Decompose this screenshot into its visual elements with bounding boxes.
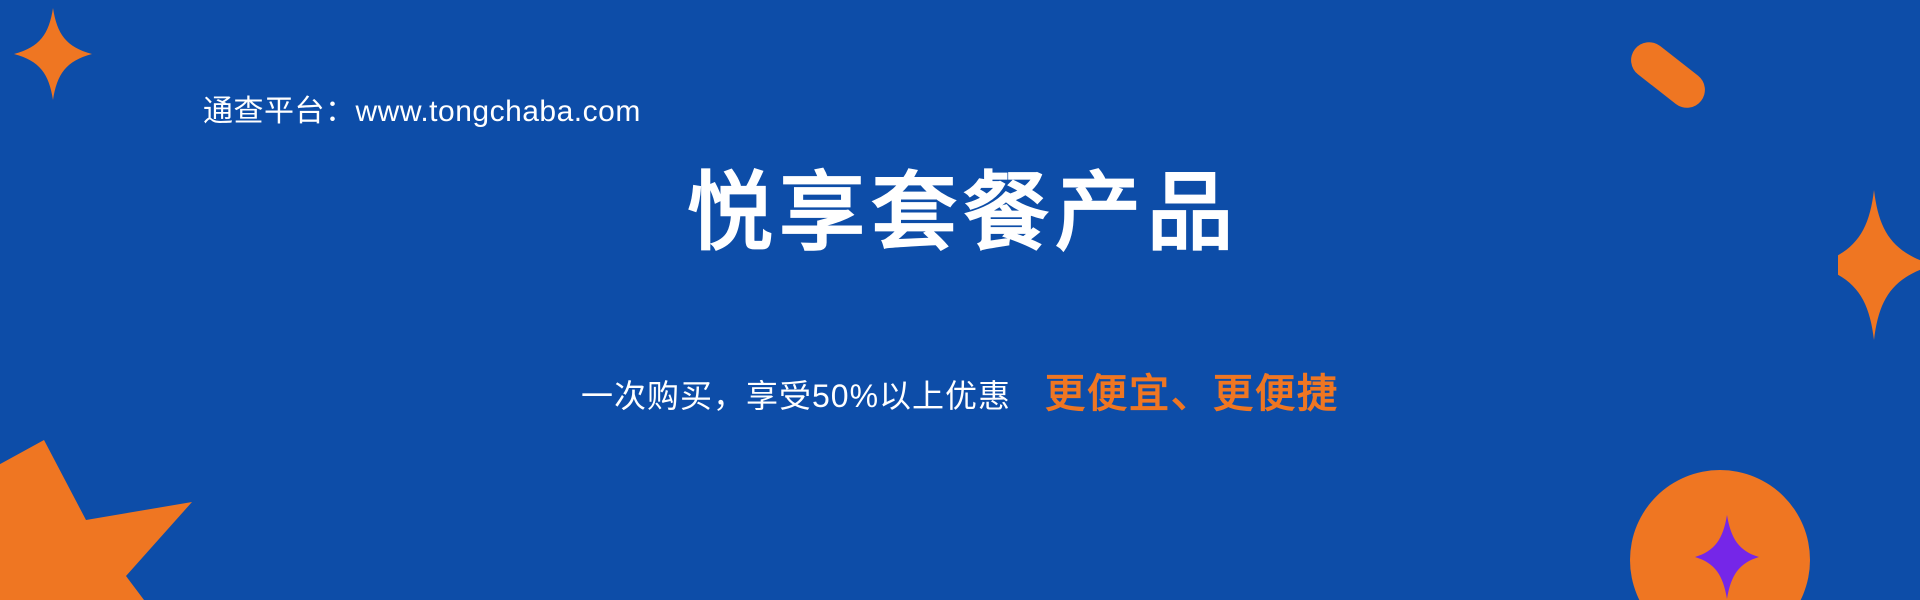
subtitle-accent-text: 更便宜、更便捷 [1045, 361, 1339, 419]
site-url: www.tongchaba.com [356, 95, 641, 128]
promo-banner: 通查平台：www.tongchaba.com 悦享套餐产品 一次购买，享受50%… [0, 0, 1920, 600]
subtitle-offer-text: 一次购买，享受50%以上优惠 [581, 371, 1011, 417]
site-label: 通查平台： [203, 95, 356, 128]
site-line: 通查平台：www.tongchaba.com [203, 86, 641, 130]
subtitle-row: 一次购买，享受50%以上优惠 更便宜、更便捷 [0, 361, 1920, 419]
page-title: 悦享套餐产品 [0, 168, 1920, 258]
